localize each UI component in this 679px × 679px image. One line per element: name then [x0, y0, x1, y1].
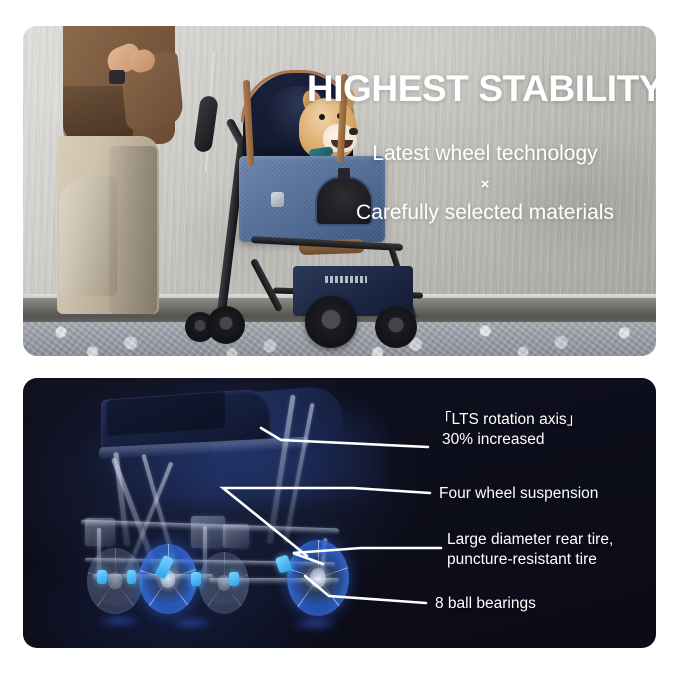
callout-3-line-2: puncture-resistant tire [447, 550, 613, 570]
callout-1-line-2: 30% increased [436, 430, 582, 450]
stroller-brand-logo [325, 276, 367, 283]
dog-nose [349, 128, 358, 135]
callout-3-line-1: Large diameter rear tire, [447, 530, 613, 550]
callout-label-3: Large diameter rear tire, puncture-resis… [447, 530, 613, 570]
callout-4-line-1: 8 ball bearings [435, 594, 536, 614]
callout-line-3 [293, 548, 441, 564]
callout-label-1: 「LTS rotation axis」 30% increased [436, 410, 582, 450]
photo-wheel-front-inner [207, 306, 245, 344]
callout-label-2: Four wheel suspension [439, 484, 598, 504]
callout-line-1 [261, 428, 428, 447]
dog-eye-left [319, 114, 325, 120]
callout-line-4 [305, 576, 426, 603]
stroller-handle-grip [193, 95, 219, 153]
callout-1-line-1: 「LTS rotation axis」 [436, 410, 582, 430]
product-infographic: HIGHEST STABILITY Latest wheel technolog… [0, 0, 679, 679]
stroller-frame-bar-diagonal [250, 258, 283, 312]
photo-wheel-rear-far [375, 306, 417, 348]
page-title: HIGHEST STABILITY [305, 70, 656, 109]
carrier-buckle [271, 192, 284, 207]
callout-label-4: 8 ball bearings [435, 594, 536, 614]
photo-wheel-rear-large [305, 296, 357, 348]
top-panel-hero-photo: HIGHEST STABILITY Latest wheel technolog… [23, 26, 656, 356]
callout-2-line-1: Four wheel suspension [439, 484, 598, 504]
subtitle-line-2: Carefully selected materials [285, 201, 656, 225]
bottom-panel-diagram: 「LTS rotation axis」 30% increased Four w… [23, 378, 656, 648]
callout-line-2 [223, 488, 430, 556]
subtitle-line-1: Latest wheel technology [285, 142, 656, 166]
times-separator: × [285, 176, 656, 193]
